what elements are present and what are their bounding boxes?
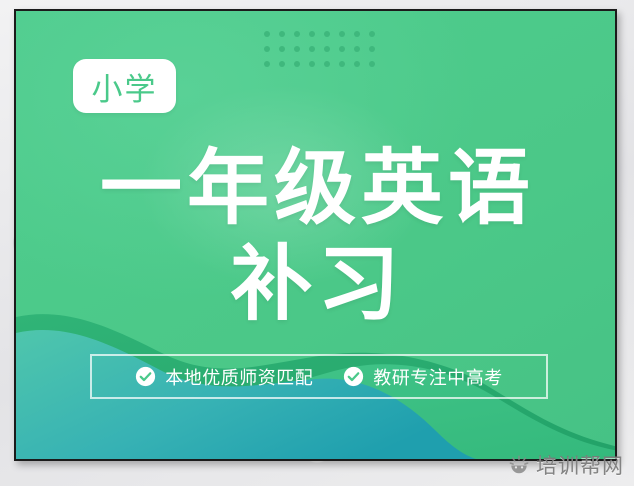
grid-dot (309, 31, 315, 37)
grid-dot (324, 31, 330, 37)
grid-dot (339, 46, 345, 52)
check-circle-icon (135, 366, 156, 387)
grid-dot (309, 61, 315, 67)
grid-dot (354, 46, 360, 52)
grid-dot (339, 31, 345, 37)
sun-face-icon (508, 454, 530, 476)
check-circle-icon (343, 366, 364, 387)
feature-strip: 本地优质师资匹配 教研专注中高考 (90, 354, 548, 399)
grid-dot (264, 61, 270, 67)
headline-line-2: 补习 (16, 237, 617, 333)
feature-label-2: 教研专注中高考 (373, 364, 503, 390)
grid-dot (279, 31, 285, 37)
grid-dot (294, 31, 300, 37)
site-watermark: 培训帮网 (502, 448, 630, 482)
grade-level-badge: 小学 (73, 59, 176, 113)
grid-dot (354, 31, 360, 37)
grid-dot (264, 31, 270, 37)
grid-dot (279, 61, 285, 67)
grid-dot (294, 61, 300, 67)
course-poster: 小学 一年级英语 补习 本地优质师资匹配 教研专注中高考 (14, 9, 617, 461)
grid-dot (279, 46, 285, 52)
poster-headline: 一年级英语 补习 (16, 141, 617, 333)
dot-grid-decoration (264, 31, 384, 76)
page-background: 小学 一年级英语 补习 本地优质师资匹配 教研专注中高考 (0, 0, 634, 486)
grid-dot (369, 46, 375, 52)
grid-dot (294, 46, 300, 52)
grid-dot (324, 61, 330, 67)
feature-item-2: 教研专注中高考 (343, 364, 503, 390)
grid-dot (324, 46, 330, 52)
grid-dot (369, 31, 375, 37)
grid-dot (339, 61, 345, 67)
feature-label-1: 本地优质师资匹配 (165, 364, 313, 390)
headline-line-1: 一年级英语 (16, 141, 617, 237)
grid-dot (264, 46, 270, 52)
grid-dot (309, 46, 315, 52)
grid-dot (369, 61, 375, 67)
grid-dot (354, 61, 360, 67)
feature-item-1: 本地优质师资匹配 (135, 364, 313, 390)
watermark-label: 培训帮网 (536, 450, 624, 480)
